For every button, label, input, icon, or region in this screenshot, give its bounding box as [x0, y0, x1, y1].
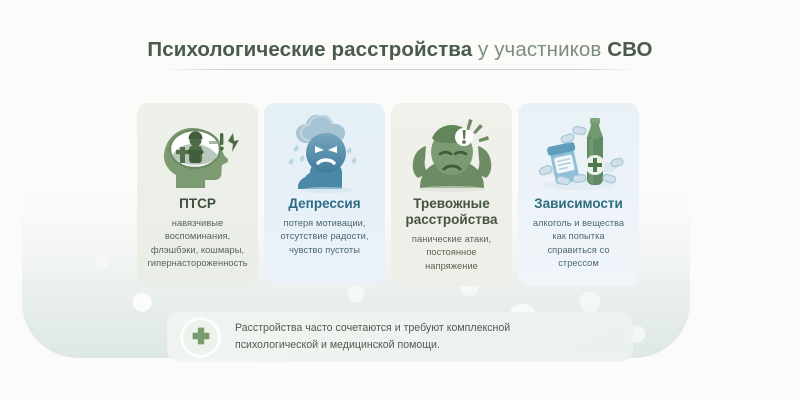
description-line: отсутствие радости, [281, 230, 369, 243]
disorder-card-description: потеря мотивации, отсутствие радости, чу… [279, 217, 371, 257]
page-title: Психологические расстройства у участнико… [0, 38, 800, 63]
description-line: справиться со стрессом [526, 244, 631, 271]
page-title-part-1: Психологические расстройства [147, 38, 472, 61]
description-line: алкоголь и вещества [526, 217, 631, 230]
description-line: флэшбэки, кошмары, [147, 244, 247, 257]
description-line: постоянное напряжение [399, 246, 504, 273]
bottle-pills-icon [529, 114, 629, 194]
disorder-card-title: Депрессия [288, 196, 360, 212]
medical-cross-icon [181, 318, 220, 357]
summary-note-line-2: психологической и медицинской помощи. [235, 337, 510, 354]
description-line: потеря мотивации, [281, 217, 369, 230]
disorder-card-description: алкоголь и вещества как попытка справить… [524, 217, 633, 271]
disorder-card-title: Тревожные расстройства [406, 196, 498, 228]
description-line: панические атаки, [399, 233, 504, 246]
disorder-card-depressiya[interactable]: Депрессия потеря мотивации, отсутствие р… [264, 103, 385, 286]
disorder-card-title-line-2: расстройства [406, 212, 498, 228]
disorder-card-zavisimosti[interactable]: Зависимости алкоголь и вещества как попы… [518, 103, 639, 286]
description-line: навязчивые [147, 217, 247, 230]
description-line: гипернастороженность [147, 257, 247, 270]
disorder-card-ptsr[interactable]: ПТСР навязчивые воспоминания, флэшбэки, … [137, 103, 258, 286]
summary-note-line-1: Расстройства часто сочетаются и требуют … [235, 320, 510, 337]
page-title-part-2: у участников [472, 38, 607, 61]
head-clutch-exclamation-icon [402, 114, 502, 194]
description-line: чувство пустоты [281, 244, 369, 257]
infographic-canvas: Психологические расстройства у участнико… [0, 0, 800, 400]
description-line: воспоминания, [147, 230, 247, 243]
header: Психологические расстройства у участнико… [0, 38, 800, 63]
disorder-card-description: панические атаки, постоянное напряжение [397, 233, 506, 273]
sad-face-rain-cloud-icon [277, 114, 373, 194]
head-soldier-thought-icon [150, 114, 246, 194]
disorder-card-title: ПТСР [179, 196, 216, 212]
disorder-card-description: навязчивые воспоминания, флэшбэки, кошма… [145, 217, 249, 271]
title-underline-rule [163, 69, 638, 70]
disorder-card-trevozhnye-rasstroystva[interactable]: Тревожные расстройства панические атаки,… [391, 103, 512, 286]
page-title-part-3: СВО [607, 38, 652, 61]
summary-note: Расстройства часто сочетаются и требуют … [167, 312, 633, 362]
disorder-card-title-line-1: Тревожные [406, 196, 498, 212]
disorder-card-list: ПТСР навязчивые воспоминания, флэшбэки, … [137, 103, 647, 286]
description-line: как попытка [526, 230, 631, 243]
disorder-card-title: Зависимости [534, 196, 623, 212]
summary-note-text: Расстройства часто сочетаются и требуют … [235, 320, 510, 354]
